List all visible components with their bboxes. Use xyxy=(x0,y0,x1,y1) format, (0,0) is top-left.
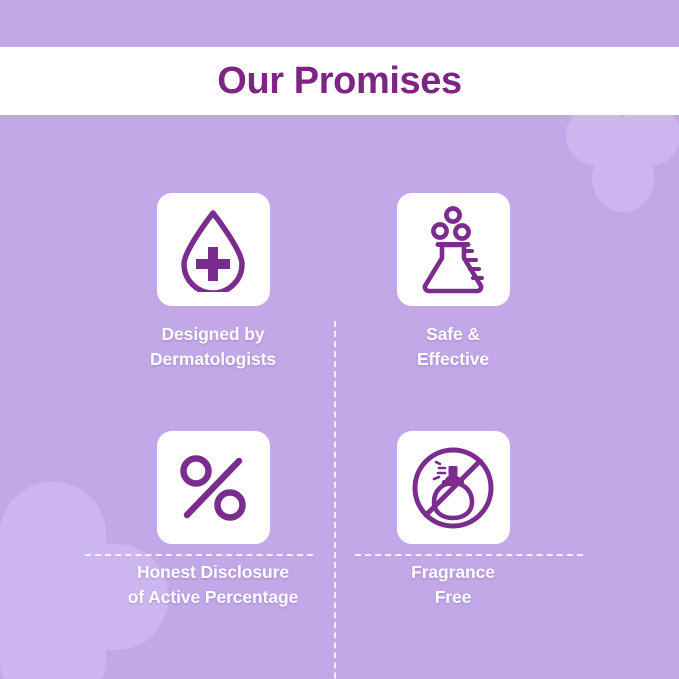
percent-icon xyxy=(177,452,249,524)
header-band: Our Promises xyxy=(0,47,679,115)
icon-card xyxy=(157,431,270,544)
icon-card xyxy=(157,193,270,306)
page-title: Our Promises xyxy=(217,62,461,100)
icon-card xyxy=(397,193,510,306)
promise-label: Honest Disclosure of Active Percentage xyxy=(128,560,298,610)
droplet-plus-icon xyxy=(174,208,252,292)
promise-item-fragrance-free: Fragrance Free xyxy=(288,431,618,610)
no-fragrance-icon xyxy=(412,447,494,529)
icon-card xyxy=(397,431,510,544)
promise-label: Safe & Effective xyxy=(417,322,489,372)
promise-label: Designed by Dermatologists xyxy=(150,322,276,372)
promise-label: Fragrance Free xyxy=(411,560,495,610)
promise-item-safe-and-effective: Safe & Effective xyxy=(288,193,618,372)
promises-infographic: Our Promises Designed by Dermatologists xyxy=(0,0,679,679)
flask-bubbles-icon xyxy=(415,206,491,294)
promises-grid: Designed by Dermatologists xyxy=(0,150,679,660)
